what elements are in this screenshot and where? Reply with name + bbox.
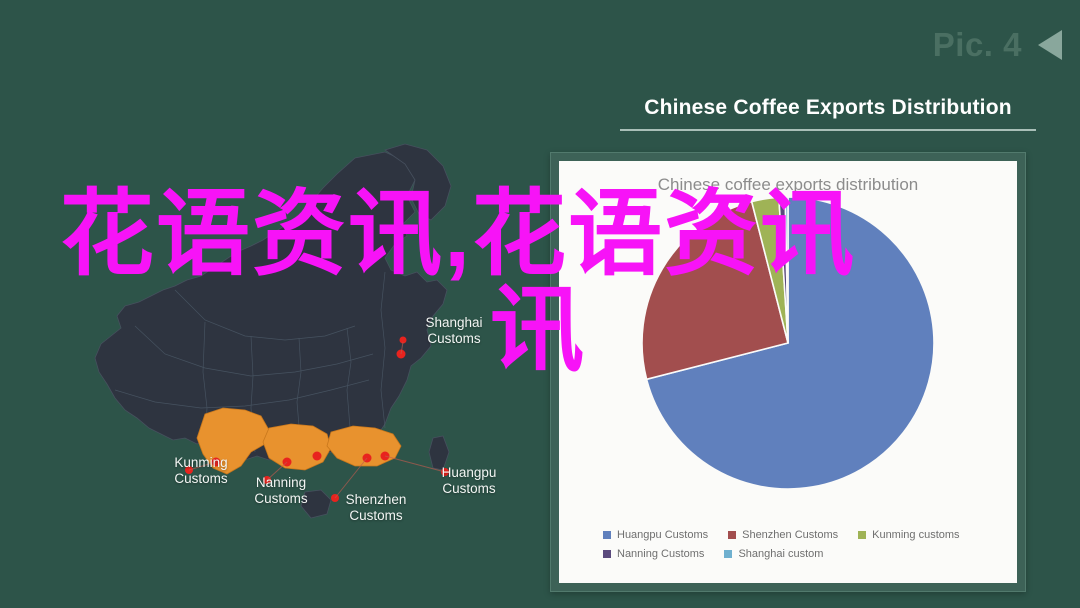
map-label-shenzhen: Shenzhen Customs (330, 492, 422, 524)
pie-chart (559, 195, 1017, 495)
pie-chart-svg (623, 195, 953, 495)
legend-label: Kunming customs (872, 529, 959, 541)
chart-header: Chinese Coffee Exports Distribution (620, 96, 1036, 131)
map-label-shanghai: Shanghai Customs (408, 315, 500, 347)
page-indicator-label: Pic. 4 (933, 28, 1022, 61)
chart-legend: Huangpu CustomsShenzhen CustomsKunming c… (603, 529, 1003, 567)
china-map-svg (55, 140, 525, 580)
page-indicator[interactable]: Pic. 4 (933, 28, 1062, 61)
china-landmass (95, 144, 451, 518)
page-title: Chinese Coffee Exports Distribution (620, 96, 1036, 120)
marker-shenzhen-port[interactable] (313, 452, 322, 461)
legend-item[interactable]: Kunming customs (858, 529, 959, 541)
legend-item[interactable]: Shanghai custom (724, 548, 823, 560)
china-customs-map: Shanghai Customs Kunming Customs Nanning… (55, 140, 525, 580)
legend-label: Shenzhen Customs (742, 529, 838, 541)
legend-swatch (728, 531, 736, 539)
legend-swatch (603, 550, 611, 558)
chart-title: Chinese coffee exports distribution (559, 175, 1017, 195)
map-label-kunming: Kunming Customs (155, 455, 247, 487)
chart-card: Chinese coffee exports distribution Huan… (550, 152, 1026, 592)
legend-swatch (724, 550, 732, 558)
slide-canvas: Pic. 4 Chinese Coffee Exports Distributi… (0, 0, 1080, 608)
legend-item[interactable]: Shenzhen Customs (728, 529, 838, 541)
legend-label: Shanghai custom (738, 548, 823, 560)
legend-label: Huangpu Customs (617, 529, 708, 541)
legend-label: Nanning Customs (617, 548, 704, 560)
map-label-nanning: Nanning Customs (235, 475, 327, 507)
legend-swatch (858, 531, 866, 539)
map-label-huangpu: Huangpu Customs (423, 465, 515, 497)
legend-item[interactable]: Nanning Customs (603, 548, 704, 560)
legend-swatch (603, 531, 611, 539)
chart-card-inner: Chinese coffee exports distribution Huan… (559, 161, 1017, 583)
triangle-left-icon[interactable] (1038, 30, 1062, 60)
title-divider (620, 129, 1036, 131)
legend-item[interactable]: Huangpu Customs (603, 529, 708, 541)
